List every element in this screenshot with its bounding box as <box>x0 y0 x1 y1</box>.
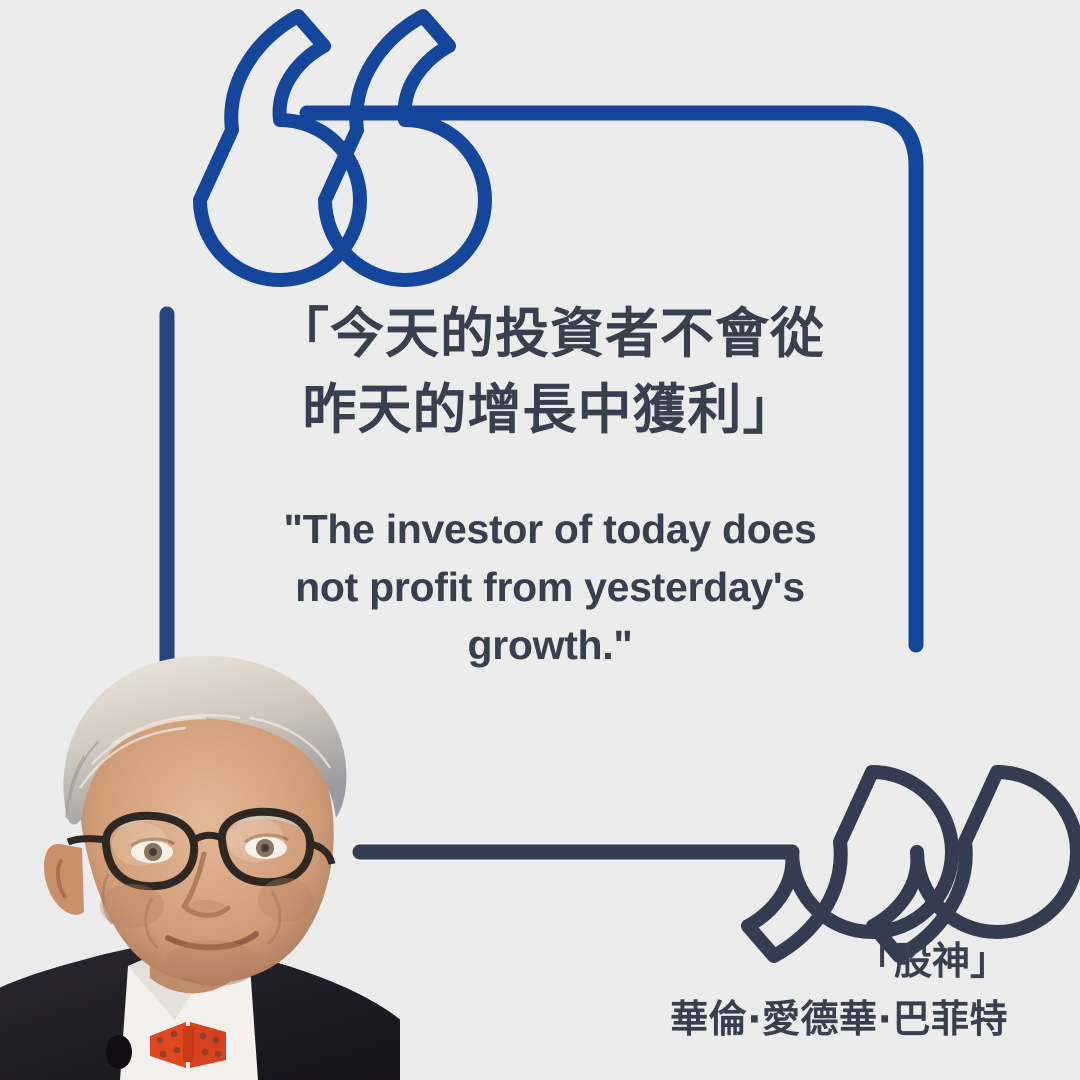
open-quote-mark <box>200 16 485 280</box>
close-quote-mark <box>748 772 1077 956</box>
attribution-title: 「股神」 <box>856 938 1008 984</box>
lapel-mic <box>106 1035 132 1069</box>
quote-chinese: 「今天的投資者不會從 昨天的增長中獲利」 <box>250 296 850 448</box>
attribution-name: 華倫·愛德華·巴菲特 <box>670 996 1008 1042</box>
warren-buffett-portrait <box>0 648 400 1080</box>
quote-card: 「今天的投資者不會從 昨天的增長中獲利」 "The investor of to… <box>0 0 1080 1080</box>
ear <box>44 844 84 915</box>
